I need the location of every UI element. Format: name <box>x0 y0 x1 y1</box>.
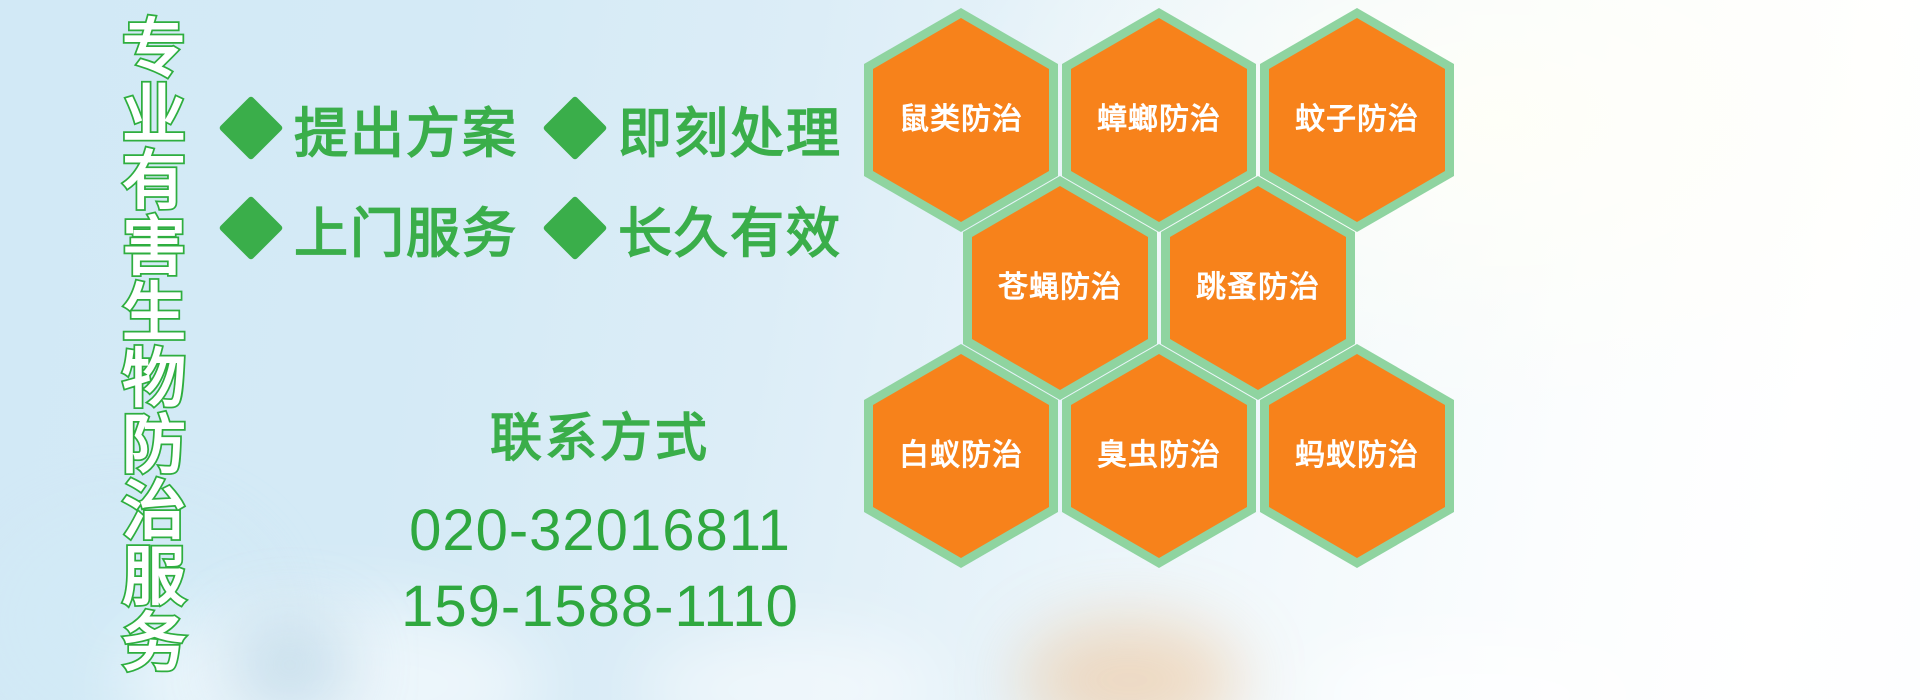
vertical-headline-char: 专 <box>122 16 186 82</box>
vertical-headline-char: 害 <box>122 214 186 280</box>
diamond-icon <box>542 95 607 160</box>
vertical-headline-char: 业 <box>122 82 186 148</box>
service-hex-label: 苍蝇防治 <box>998 273 1122 303</box>
vertical-headline-char: 务 <box>122 610 186 676</box>
vertical-headline-char: 物 <box>122 346 186 412</box>
service-hex-inner: 鼠类防治 <box>873 18 1049 222</box>
diamond-icon <box>218 195 283 260</box>
vertical-headline: 专 业 有 害 生 物 防 治 服 务 <box>108 16 200 556</box>
service-hex-label: 蚊子防治 <box>1295 105 1419 135</box>
feature-list: 提出方案 即刻处理 上门服务 长久有效 <box>228 78 868 278</box>
service-hex-label: 鼠类防治 <box>899 105 1023 135</box>
feature-item-long-lasting: 长久有效 <box>552 189 842 268</box>
service-hex-inner: 跳蚤防治 <box>1170 186 1346 390</box>
feature-label: 提出方案 <box>294 89 518 168</box>
diamond-icon <box>542 195 607 260</box>
contact-heading: 联系方式 <box>300 396 900 471</box>
service-hex-inner: 蟑螂防治 <box>1071 18 1247 222</box>
vertical-headline-char: 治 <box>122 478 186 544</box>
phone-number-mobile[interactable]: 159-1588-1110 <box>300 569 900 645</box>
service-hex-grid: 鼠类防治 蟑螂防治 蚊子防治 苍蝇防治 跳蚤防治 白蚁防治 <box>860 0 1480 700</box>
service-hex-inner: 蚊子防治 <box>1269 18 1445 222</box>
contact-block: 联系方式 020-32016811 159-1588-1110 <box>300 396 900 645</box>
service-hex-label: 蚂蚁防治 <box>1295 441 1419 471</box>
feature-row: 上门服务 长久有效 <box>228 178 868 278</box>
pest-control-banner: 专 业 有 害 生 物 防 治 服 务 提出方案 即刻处理 上门服务 <box>0 0 1920 700</box>
service-hex-inner: 白蚁防治 <box>873 354 1049 558</box>
service-hex-label: 臭虫防治 <box>1097 441 1221 471</box>
vertical-headline-char: 服 <box>122 544 186 610</box>
feature-item-propose-plan: 提出方案 <box>228 89 518 168</box>
feature-label: 长久有效 <box>618 189 842 268</box>
service-hex-inner: 苍蝇防治 <box>972 186 1148 390</box>
service-hex-label: 蟑螂防治 <box>1097 105 1221 135</box>
diamond-icon <box>218 95 283 160</box>
vertical-headline-char: 防 <box>122 412 186 478</box>
service-hex-inner: 蚂蚁防治 <box>1269 354 1445 558</box>
feature-label: 上门服务 <box>294 189 518 268</box>
vertical-headline-char: 有 <box>122 148 186 214</box>
feature-label: 即刻处理 <box>618 89 842 168</box>
feature-item-immediate-treatment: 即刻处理 <box>552 89 842 168</box>
service-hex-inner: 臭虫防治 <box>1071 354 1247 558</box>
phone-number-landline[interactable]: 020-32016811 <box>300 493 900 569</box>
vertical-headline-char: 生 <box>122 280 186 346</box>
service-hex-label: 跳蚤防治 <box>1196 273 1320 303</box>
feature-item-onsite-service: 上门服务 <box>228 189 518 268</box>
service-hex-label: 白蚁防治 <box>899 441 1023 471</box>
feature-row: 提出方案 即刻处理 <box>228 78 868 178</box>
